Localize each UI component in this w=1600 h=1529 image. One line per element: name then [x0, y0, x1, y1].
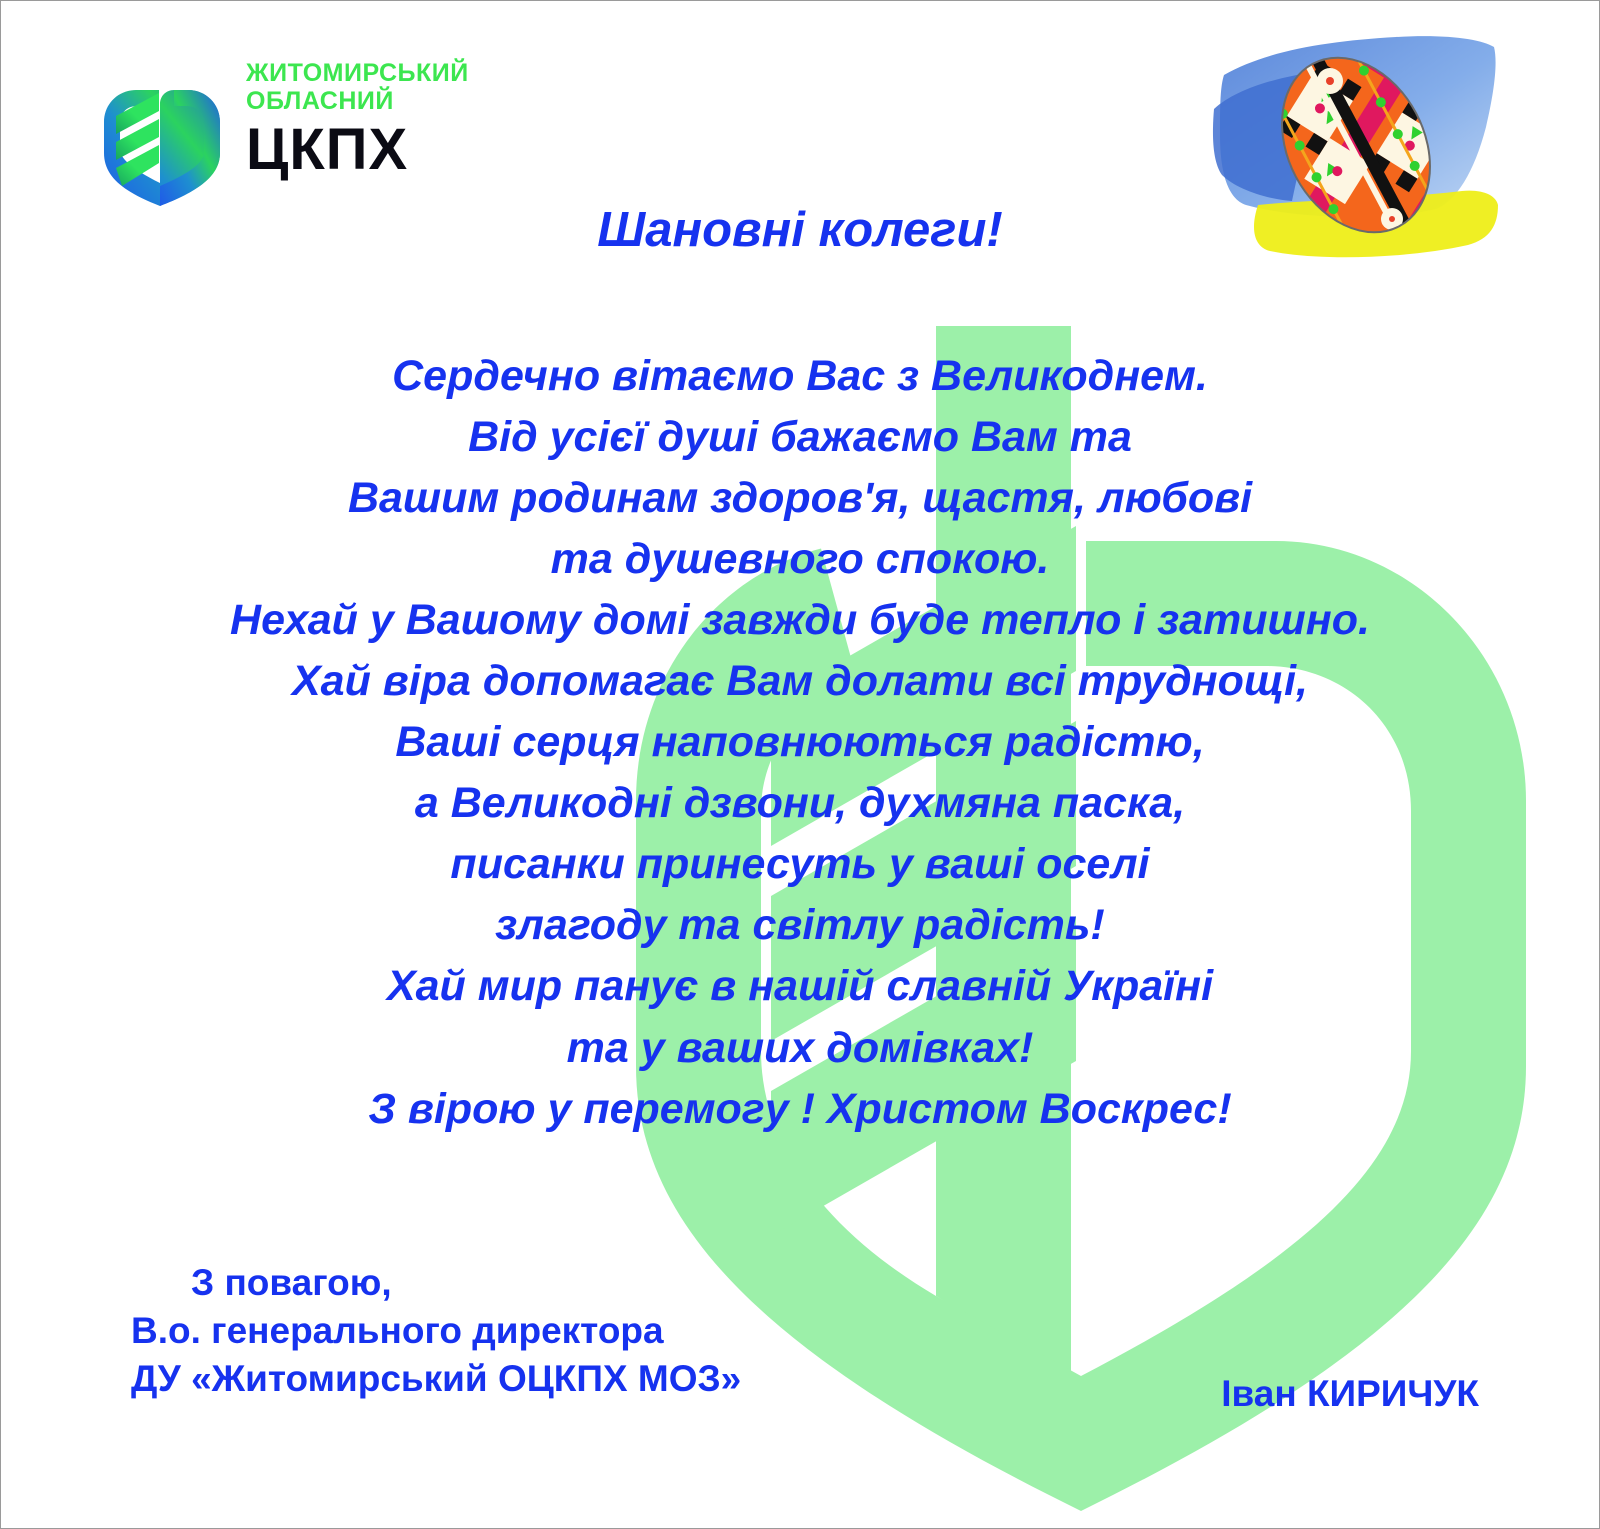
logo-abbreviation: ЦКПХ [246, 121, 469, 179]
ukrainian-easter-egg-pysanka-image [1206, 23, 1504, 269]
message-line: Ваші серця наповнюються радістю, [1, 712, 1599, 773]
signature-organization: ДУ «Житомирський ОЦКПХ МОЗ» [131, 1355, 741, 1403]
signer-name: Іван КИРИЧУК [1221, 1373, 1479, 1415]
message-line: Хай віра допомагає Вам долати всі трудно… [1, 651, 1599, 712]
message-line: З вірою у перемогу ! Христом Воскрес! [1, 1079, 1599, 1140]
organization-logo: ЖИТОМИРСЬКИЙ ОБЛАСНИЙ ЦКПХ [96, 59, 469, 209]
message-line: Хай мир панує в нашій славній Україні [1, 956, 1599, 1017]
signature-role: В.о. генерального директора [131, 1307, 741, 1355]
message-line: та у ваших домівках! [1, 1018, 1599, 1079]
message-line: Нехай у Вашому домі завжди буде тепло і … [1, 590, 1599, 651]
easter-greeting-card: ЖИТОМИРСЬКИЙ ОБЛАСНИЙ ЦКПХ [0, 0, 1600, 1529]
message-line: писанки принесуть у ваші оселі [1, 834, 1599, 895]
logo-line-1: ЖИТОМИРСЬКИЙ [246, 59, 469, 87]
message-line: та душевного спокою. [1, 529, 1599, 590]
message-line: Вашим родинам здоров'я, щастя, любові [1, 468, 1599, 529]
signature-closing: З повагою, [131, 1259, 741, 1307]
message-line: а Великодні дзвони, духмяна паска, [1, 773, 1599, 834]
heart-shield-logo-icon [96, 59, 228, 209]
message-line: Сердечно вітаємо Вас з Великоднем. [1, 346, 1599, 407]
message-line: злагоду та світлу радість! [1, 895, 1599, 956]
message-line: Від усієї душі бажаємо Вам та [1, 407, 1599, 468]
signature-block: З повагою, В.о. генерального директора Д… [131, 1259, 741, 1403]
message-body: Сердечно вітаємо Вас з Великоднем. Від у… [1, 346, 1599, 1140]
logo-line-2: ОБЛАСНИЙ [246, 87, 469, 115]
logo-wordmark: ЖИТОМИРСЬКИЙ ОБЛАСНИЙ ЦКПХ [246, 59, 469, 179]
